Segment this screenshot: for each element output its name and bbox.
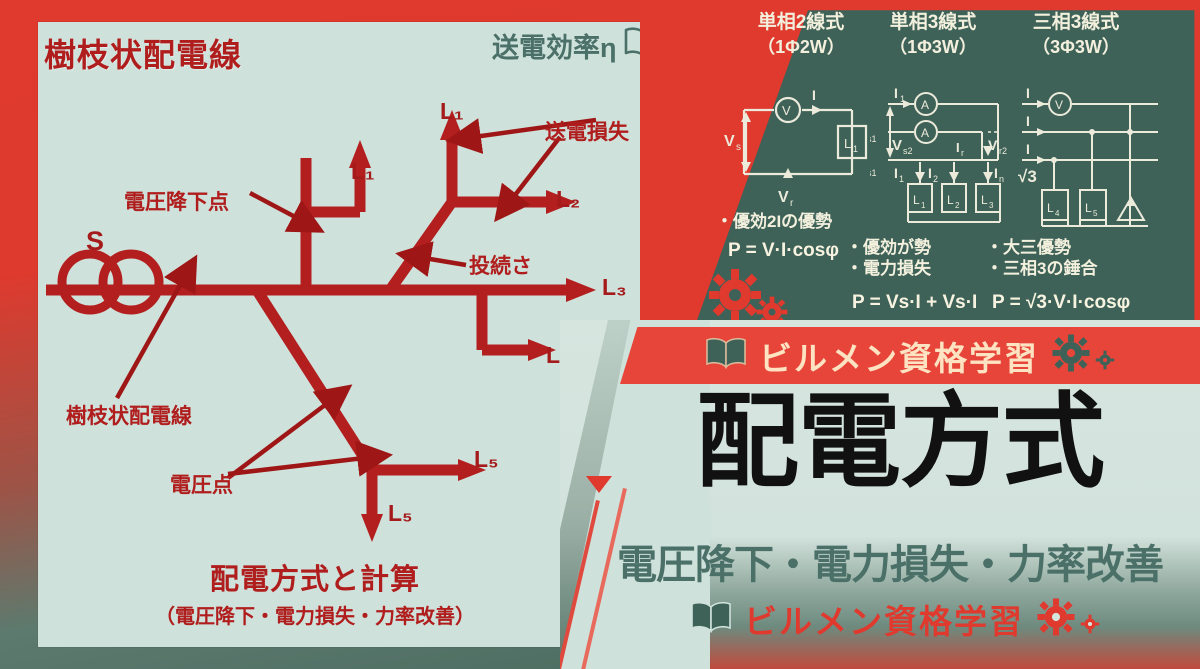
svg-text:I: I bbox=[894, 86, 898, 101]
left-panel-caption: 配電方式と計算 （電圧降下・電力損失・力率改善） bbox=[0, 556, 630, 629]
circuit-formula-2: P = Vs·I + Vs·I bbox=[852, 292, 977, 314]
svg-text:V: V bbox=[724, 133, 735, 150]
gear-icon-banner-top-small bbox=[1103, 336, 1115, 375]
banner-bottom-text: ビルメン資格学習 bbox=[744, 595, 1024, 643]
gear-icon-banner-top bbox=[1051, 333, 1091, 378]
caption-main: 配電方式と計算 bbox=[0, 556, 630, 598]
node-label-L1-node: L₁ bbox=[440, 98, 464, 125]
circuit-title-2: 単相3線式 bbox=[858, 12, 1008, 33]
circuit-diagram-1phase-2wire: V I V s V r L 1 bbox=[724, 88, 884, 208]
svg-text:r: r bbox=[961, 148, 964, 158]
circuit-title-3: 三相3線式 bbox=[996, 12, 1156, 33]
svg-text:1: 1 bbox=[900, 94, 905, 104]
annotation-voltage-drop-point: 電圧降下点 bbox=[124, 186, 229, 216]
circuit-bullets-3: ・大三優勢 ・三相3の錘合 bbox=[986, 238, 1166, 279]
svg-text:2: 2 bbox=[955, 201, 960, 210]
bullet-1-1: ・優効2Iの優勢 bbox=[716, 212, 876, 233]
infographic-thumbnail: 樹枝状配電線 送電効率η 電圧降下点 送電損失 投続さ 樹枝状配電線 電圧点 L… bbox=[0, 0, 1200, 669]
annotation-voltage-point: 電圧点 bbox=[170, 469, 233, 499]
gear-icon-banner-bottom-small bbox=[1088, 600, 1100, 639]
annotation-connection: 投続さ bbox=[469, 250, 532, 280]
svg-text:r: r bbox=[790, 198, 794, 208]
gear-icon-large bbox=[708, 268, 762, 322]
node-label-L5-right: L₅ bbox=[474, 446, 499, 473]
efficiency-text: 送電効率η bbox=[492, 26, 617, 65]
circuit-column-1: 単相2線式 （1Φ2W） bbox=[726, 12, 876, 59]
svg-text:s2: s2 bbox=[903, 146, 913, 156]
circuit-formula-3: P = √3·V·I·cosφ bbox=[992, 292, 1130, 314]
svg-text:3: 3 bbox=[989, 201, 994, 210]
svg-text:I: I bbox=[994, 165, 998, 181]
svg-text:√3: √3 bbox=[1018, 167, 1037, 186]
svg-text:V: V bbox=[892, 137, 902, 154]
svg-text:I: I bbox=[1026, 86, 1030, 101]
svg-text:V: V bbox=[778, 189, 789, 206]
svg-text:L: L bbox=[1085, 201, 1092, 215]
circuit-title-1: 単相2線式 bbox=[726, 12, 876, 33]
svg-text:1: 1 bbox=[899, 174, 904, 184]
svg-text:L: L bbox=[947, 193, 954, 207]
node-label-L2: L₂ bbox=[556, 186, 580, 213]
left-panel-heading: 樹枝状配電線 bbox=[44, 30, 242, 76]
circuit-diagram-3phase-3wire: I I I V V √3 L 4 L 5 bbox=[1008, 86, 1168, 236]
formula-2-text: P = Vs·I + Vs·I bbox=[852, 292, 977, 313]
svg-text:I: I bbox=[1026, 113, 1030, 129]
annotation-tree-feeder: 樹枝状配電線 bbox=[66, 400, 192, 430]
gear-icon-banner-bottom bbox=[1036, 597, 1076, 642]
transmission-efficiency-label: 送電効率η bbox=[492, 26, 664, 65]
node-label-L1-inner: L₁ bbox=[351, 158, 375, 185]
circuit-column-3: 三相3線式 （3Φ3W） bbox=[996, 12, 1156, 59]
svg-text:s1: s1 bbox=[870, 134, 877, 144]
circuit-subtitle-1: （1Φ2W） bbox=[726, 33, 876, 59]
svg-text:2: 2 bbox=[933, 174, 938, 184]
circuit-blackboard-panel: 単相2線式 （1Φ2W） V I V s V r L 1 bbox=[640, 0, 1200, 340]
svg-text:4: 4 bbox=[1055, 209, 1060, 218]
circuit-formula-1: P = V·I·cosφ bbox=[728, 240, 839, 262]
svg-text:n: n bbox=[999, 174, 1004, 184]
svg-text:s: s bbox=[736, 142, 741, 153]
svg-text:L: L bbox=[981, 193, 988, 207]
node-label-L5-down: L₅ bbox=[388, 500, 413, 527]
source-label-S: S bbox=[86, 226, 104, 257]
annotation-transmission-loss: 送電損失 bbox=[545, 116, 629, 146]
svg-text:L: L bbox=[844, 136, 851, 151]
circuit-subtitle-2: （1Φ3W） bbox=[858, 33, 1008, 59]
svg-text:A: A bbox=[921, 98, 929, 112]
open-book-icon-banner-top bbox=[705, 337, 747, 374]
svg-text:I: I bbox=[894, 165, 898, 181]
bullet-3-1: ・大三優勢 bbox=[986, 238, 1166, 259]
open-book-icon-banner-bottom bbox=[690, 601, 732, 638]
svg-text:r2: r2 bbox=[999, 146, 1007, 156]
svg-text:I: I bbox=[812, 88, 816, 103]
banner-bottom: ビルメン資格学習 bbox=[590, 588, 1200, 650]
svg-text:1: 1 bbox=[921, 201, 926, 210]
svg-text:A: A bbox=[921, 126, 929, 140]
svg-text:1: 1 bbox=[853, 144, 858, 154]
svg-text:V: V bbox=[988, 137, 998, 153]
circuit-subtitle-3: （3Φ3W） bbox=[996, 33, 1156, 59]
page-title: 配電方式 bbox=[600, 390, 1200, 493]
svg-text:L: L bbox=[913, 193, 920, 207]
svg-text:5: 5 bbox=[1093, 209, 1098, 218]
svg-text:V: V bbox=[1055, 98, 1063, 112]
svg-text:V: V bbox=[782, 103, 791, 118]
svg-text:s1: s1 bbox=[870, 168, 877, 178]
title-panel: ビルメン資格学習 bbox=[560, 320, 1200, 669]
bullet-3-2: ・三相3の錘合 bbox=[986, 259, 1166, 280]
svg-text:I: I bbox=[928, 165, 932, 181]
circuit-column-2: 単相3線式 （1Φ3W） bbox=[858, 12, 1008, 59]
banner-top-text: ビルメン資格学習 bbox=[759, 332, 1039, 380]
circuit-bullets-1: ・優効2Iの優勢 bbox=[716, 212, 876, 233]
node-label-L3: L₃ bbox=[602, 274, 627, 301]
page-subtitle: 電圧降下・電力損失・力率改善 bbox=[580, 532, 1200, 590]
banner-top: ビルメン資格学習 bbox=[620, 327, 1200, 384]
svg-text:I: I bbox=[1026, 141, 1030, 157]
svg-text:I: I bbox=[956, 140, 960, 155]
svg-text:L: L bbox=[1047, 201, 1054, 215]
caption-sub: （電圧降下・電力損失・力率改善） bbox=[0, 600, 630, 629]
